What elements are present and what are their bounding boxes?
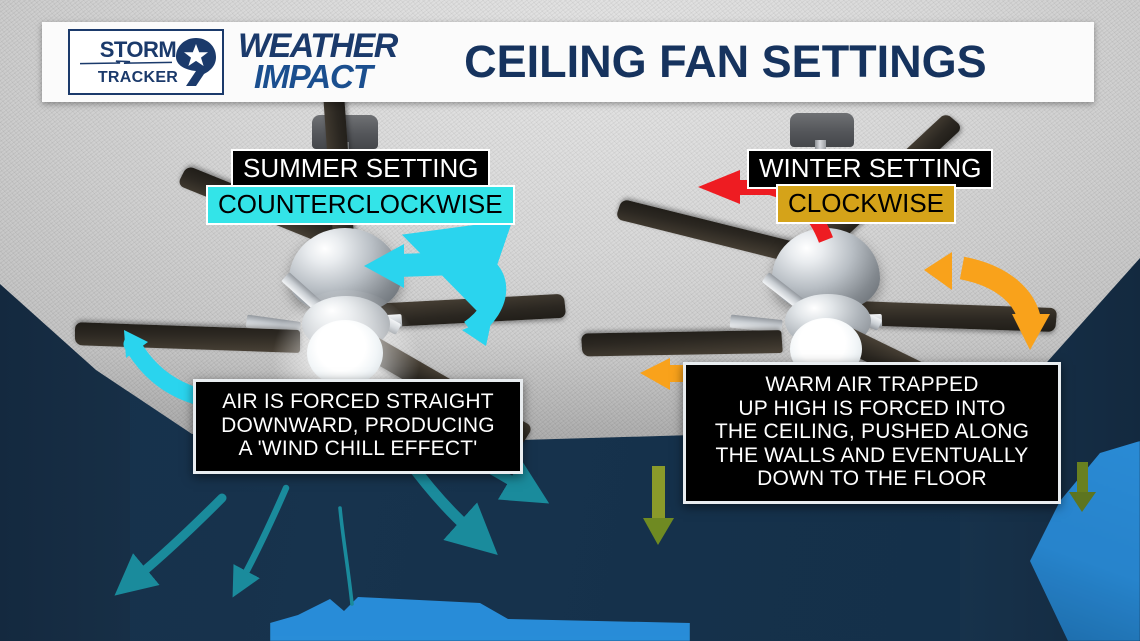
- storm-tracker-logo: STORM TRACKER: [68, 29, 224, 95]
- winter-direction-label: CLOCKWISE: [776, 184, 956, 224]
- summer-caption-line: DOWNWARD, PRODUCING: [208, 414, 508, 438]
- weather-impact-logo: WEATHER IMPACT: [238, 31, 397, 93]
- winter-caption-line: WARM AIR TRAPPED: [698, 373, 1046, 397]
- summer-setting-label: SUMMER SETTING: [231, 149, 490, 189]
- ceiling-fan-settings-graphic: STORM TRACKER WEATHER IMPACT CEILING FAN…: [0, 0, 1140, 641]
- header-bar: STORM TRACKER WEATHER IMPACT CEILING FAN…: [42, 22, 1094, 102]
- page-title: CEILING FAN SETTINGS: [397, 36, 1094, 88]
- summer-direction-label: COUNTERCLOCKWISE: [206, 185, 515, 225]
- fan-blade: [581, 330, 783, 356]
- winter-setting-label: WINTER SETTING: [747, 149, 993, 189]
- logo-tracker-text: TRACKER: [98, 70, 178, 86]
- channel-nine-star-icon: [174, 37, 218, 87]
- summer-caption: AIR IS FORCED STRAIGHT DOWNWARD, PRODUCI…: [193, 379, 523, 474]
- lightning-bolt-icon: [80, 60, 172, 65]
- fan-summer-light-globe: [307, 320, 383, 386]
- summer-caption-line: AIR IS FORCED STRAIGHT: [208, 390, 508, 414]
- winter-caption-line: DOWN TO THE FLOOR: [698, 467, 1046, 491]
- winter-caption-line: THE WALLS AND EVENTUALLY: [698, 444, 1046, 468]
- logo-storm-text: STORM: [100, 39, 177, 61]
- winter-caption-line: UP HIGH IS FORCED INTO: [698, 397, 1046, 421]
- winter-caption: WARM AIR TRAPPED UP HIGH IS FORCED INTO …: [683, 362, 1061, 504]
- winter-caption-line: THE CEILING, PUSHED ALONG: [698, 420, 1046, 444]
- summer-caption-line: A 'WIND CHILL EFFECT': [208, 437, 508, 461]
- weather-impact-line2: IMPACT: [254, 62, 397, 92]
